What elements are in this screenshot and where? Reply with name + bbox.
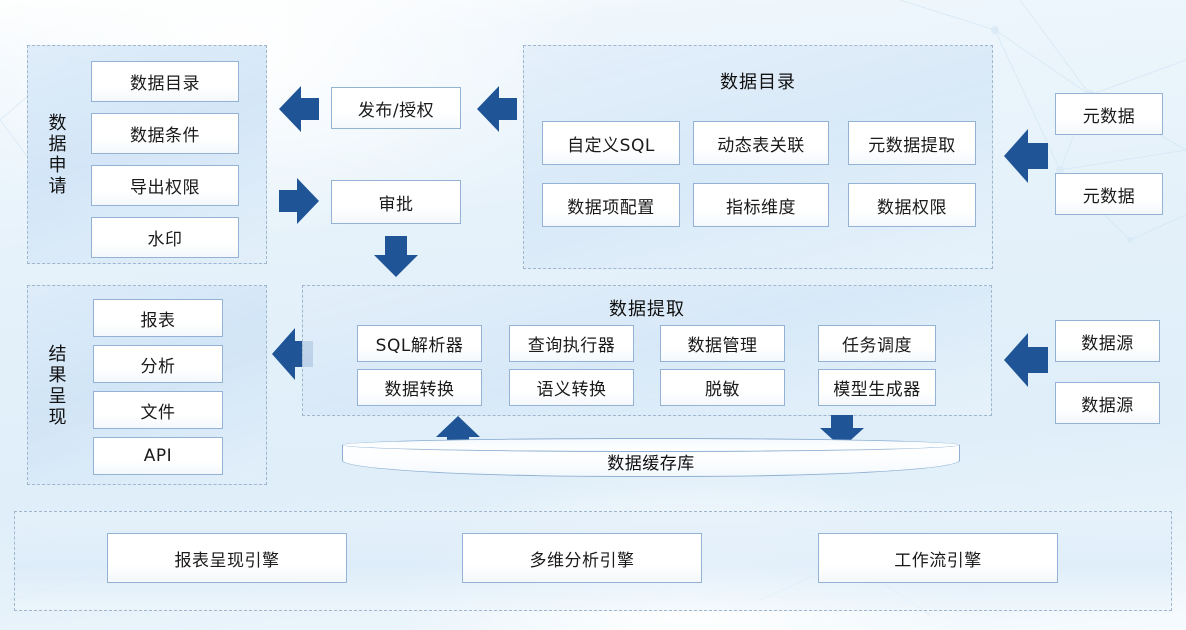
box-data-catalog-0[interactable]: 自定义SQL: [542, 121, 680, 165]
box-data-catalog-5[interactable]: 数据权限: [848, 183, 976, 227]
arrow-datasource-to-extraction-icon: [1002, 330, 1050, 390]
panel-result-presentation-label: 结果呈现: [33, 296, 77, 476]
box-data-application-0[interactable]: 数据目录: [91, 61, 239, 102]
diagram-canvas: 数据申请 数据目录 数据条件 导出权限 水印 结果呈现 报表 分析 文件 API…: [0, 0, 1186, 630]
arrow-catalog-to-publish-icon: [475, 84, 519, 134]
box-engine-0[interactable]: 报表呈现引擎: [107, 533, 347, 583]
box-data-catalog-3[interactable]: 数据项配置: [542, 183, 680, 227]
cylinder-label: 数据缓存库: [342, 447, 960, 475]
box-data-application-2[interactable]: 导出权限: [91, 165, 239, 206]
box-metadata-top[interactable]: 元数据: [1055, 93, 1163, 135]
box-data-catalog-2[interactable]: 元数据提取: [848, 121, 976, 165]
arrow-approval-to-extraction-icon: [372, 233, 420, 279]
box-data-extraction-4[interactable]: 数据转换: [357, 369, 482, 406]
box-result-presentation-2[interactable]: 文件: [93, 391, 223, 429]
box-data-extraction-5[interactable]: 语义转换: [509, 369, 634, 406]
box-data-extraction-6[interactable]: 脱敏: [660, 369, 785, 406]
box-data-application-1[interactable]: 数据条件: [91, 113, 239, 154]
panel-data-application-label: 数据申请: [33, 55, 77, 255]
box-data-extraction-0[interactable]: SQL解析器: [357, 325, 482, 362]
cylinder-data-cache[interactable]: 数据缓存库: [342, 438, 960, 484]
box-data-catalog-4[interactable]: 指标维度: [693, 183, 829, 227]
box-data-extraction-2[interactable]: 数据管理: [660, 325, 785, 362]
box-datasource-top[interactable]: 数据源: [1055, 320, 1160, 362]
box-result-presentation-1[interactable]: 分析: [93, 345, 223, 383]
box-engine-1[interactable]: 多维分析引擎: [462, 533, 702, 583]
box-data-extraction-7[interactable]: 模型生成器: [818, 369, 936, 406]
panel-data-extraction-title: 数据提取: [302, 295, 992, 321]
box-data-catalog-1[interactable]: 动态表关联: [693, 121, 829, 165]
box-data-application-3[interactable]: 水印: [91, 217, 239, 258]
box-data-extraction-1[interactable]: 查询执行器: [509, 325, 634, 362]
arrow-publish-to-application-icon: [277, 84, 321, 134]
arrow-application-to-approval-icon: [277, 176, 321, 226]
box-result-presentation-0[interactable]: 报表: [93, 299, 223, 337]
arrow-metadata-to-catalog-icon: [1002, 126, 1050, 186]
box-datasource-bottom[interactable]: 数据源: [1055, 382, 1160, 424]
box-engine-2[interactable]: 工作流引擎: [818, 533, 1058, 583]
panel-data-catalog-title: 数据目录: [523, 68, 993, 94]
box-result-presentation-3[interactable]: API: [93, 437, 223, 475]
box-data-extraction-3[interactable]: 任务调度: [818, 325, 936, 362]
box-metadata-bottom[interactable]: 元数据: [1055, 173, 1163, 215]
box-approval[interactable]: 审批: [331, 180, 461, 224]
box-publish-authorize[interactable]: 发布/授权: [331, 87, 461, 129]
